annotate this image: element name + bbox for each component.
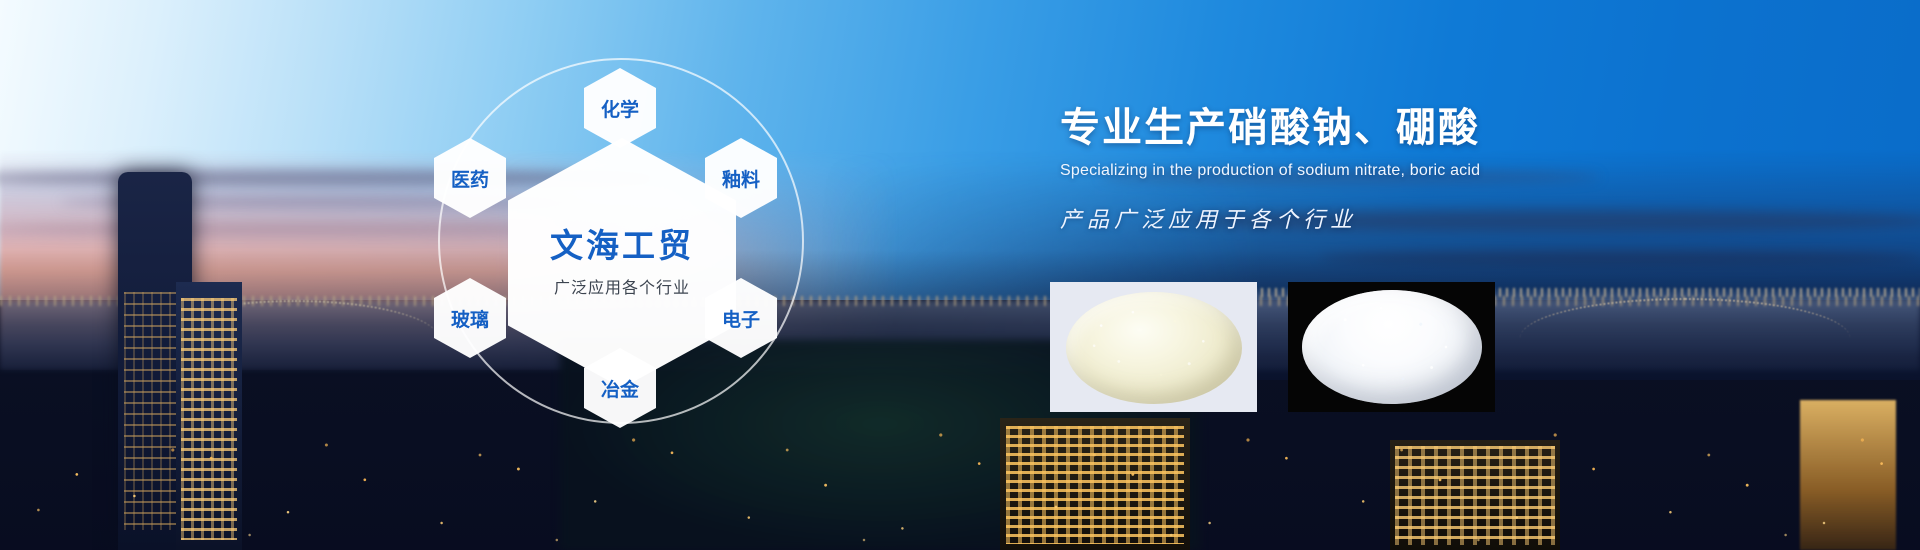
banner-subhead-english: Specializing in the production of sodium…: [1060, 162, 1860, 180]
product-photo-sodium-nitrate: [1050, 282, 1257, 412]
powder-pile-white: [1302, 290, 1482, 404]
hex-node-label: 化学: [601, 95, 639, 122]
industry-hex-diagram: 文海工贸 广泛应用各个行业 化学 釉料 电子 冶金 玻璃 医药: [420, 30, 840, 450]
banner-headline: 专业生产硝酸钠、硼酸: [1060, 95, 1860, 153]
company-name: 文海工贸: [550, 228, 694, 264]
city-skyline-background: [0, 0, 1920, 550]
product-photo-boric-acid: [1288, 282, 1495, 412]
hex-node-label: 玻璃: [451, 305, 489, 332]
banner-tagline: 产品广泛应用于各个行业: [1060, 202, 1860, 234]
banner-copy-block: 专业生产硝酸钠、硼酸 Specializing in the productio…: [1060, 95, 1860, 234]
hex-node-label: 釉料: [722, 165, 760, 192]
hex-node-label: 医药: [451, 165, 489, 192]
hex-node-label: 冶金: [601, 375, 639, 402]
promo-banner: 文海工贸 广泛应用各个行业 化学 釉料 电子 冶金 玻璃 医药 专业生产硝酸钠、…: [0, 0, 1920, 550]
company-tagline: 广泛应用各个行业: [554, 274, 690, 298]
powder-pile-cream: [1066, 292, 1242, 404]
city-window-lights-secondary: [0, 300, 1920, 550]
hex-node-label: 电子: [722, 305, 760, 332]
